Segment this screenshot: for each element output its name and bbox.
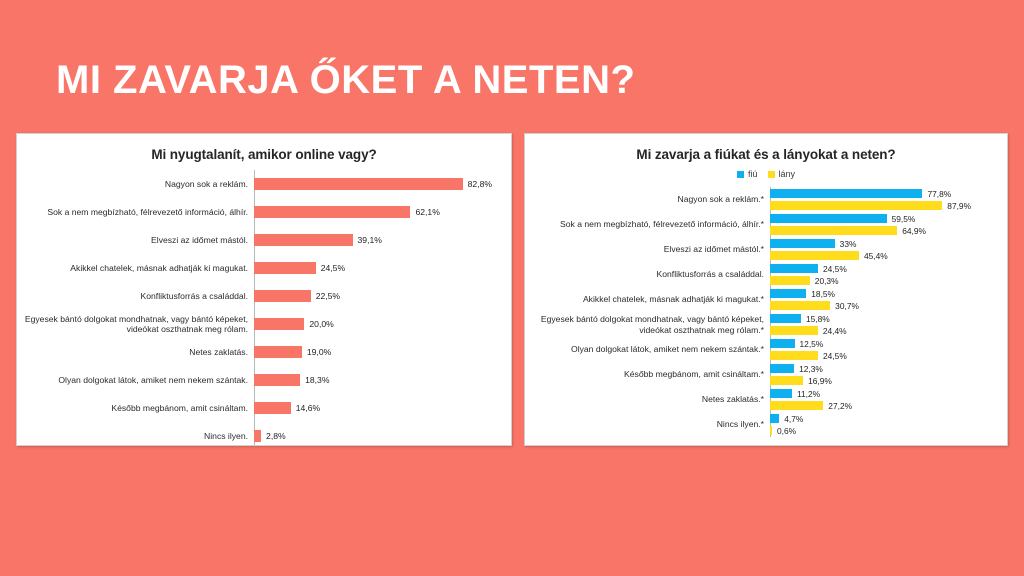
bar-row-label: Netes zaklatás. bbox=[17, 347, 254, 358]
bar-row-label: Netes zaklatás.* bbox=[525, 394, 770, 405]
bar-value-label: 2,8% bbox=[261, 431, 286, 441]
bar-row-label: Akikkel chatelek, másnak adhatják ki mag… bbox=[17, 263, 254, 274]
bar-row-label: Elveszi az időmet mástól.* bbox=[525, 244, 770, 255]
bar-row-bars: 39,1% bbox=[254, 234, 511, 246]
bar-row-bars: 12,3%16,9% bbox=[770, 364, 1007, 386]
bar-segment bbox=[254, 262, 316, 274]
bar-row: Akikkel chatelek, másnak adhatják ki mag… bbox=[525, 287, 1007, 312]
bar-row: Netes zaklatás.19,0% bbox=[17, 338, 511, 366]
bar-segment-fiú bbox=[770, 314, 801, 323]
bar-value-label: 64,9% bbox=[897, 226, 926, 236]
bar-segment bbox=[254, 318, 304, 330]
bar-row-label: Nagyon sok a reklám.* bbox=[525, 194, 770, 205]
bar-segment-lány bbox=[770, 276, 810, 285]
bar-row-bars: 2,8% bbox=[254, 430, 511, 442]
bar-row-bars: 22,5% bbox=[254, 290, 511, 302]
bar-value-label: 77,8% bbox=[922, 189, 951, 199]
bar-row-bars: 24,5%20,3% bbox=[770, 264, 1007, 286]
bar-row: Nagyon sok a reklám.*77,8%87,9% bbox=[525, 187, 1007, 212]
bar-row-bars: 59,5%64,9% bbox=[770, 214, 1007, 236]
bar-value-label: 19,0% bbox=[302, 347, 331, 357]
bar-row-bars: 18,3% bbox=[254, 374, 511, 386]
bar-row-label: Olyan dolgokat látok, amiket nem nekem s… bbox=[17, 375, 254, 386]
bar-segment-fiú bbox=[770, 339, 795, 348]
bar-value-label: 12,5% bbox=[795, 339, 824, 349]
bar-value-label: 22,5% bbox=[311, 291, 340, 301]
legend-label: lány bbox=[779, 169, 796, 179]
bar-value-label: 62,1% bbox=[410, 207, 439, 217]
bar-row: Konfliktusforrás a családdal.24,5%20,3% bbox=[525, 262, 1007, 287]
bar-value-label: 30,7% bbox=[830, 301, 859, 311]
legend-swatch-icon bbox=[768, 171, 775, 178]
bar-value-label: 82,8% bbox=[463, 179, 492, 189]
bar-value-label: 16,9% bbox=[803, 376, 832, 386]
bar-row-bars: 20,0% bbox=[254, 318, 511, 330]
bar-value-label: 12,3% bbox=[794, 364, 823, 374]
chart-card-left: Mi nyugtalanít, amikor online vagy? Nagy… bbox=[16, 133, 512, 446]
bar-row-label: Sok a nem megbízható, félrevezető inform… bbox=[17, 207, 254, 218]
bar-row: Netes zaklatás.*11,2%27,2% bbox=[525, 387, 1007, 412]
bar-row-bars: 15,8%24,4% bbox=[770, 314, 1007, 336]
bar-value-label: 24,5% bbox=[818, 264, 847, 274]
bar-row-bars: 33%45,4% bbox=[770, 239, 1007, 261]
bar-row: Elveszi az időmet mástól.39,1% bbox=[17, 226, 511, 254]
bar-row-label: Egyesek bántó dolgokat mondhatnak, vagy … bbox=[525, 314, 770, 335]
bar-segment bbox=[254, 402, 291, 414]
legend-label: fiú bbox=[748, 169, 758, 179]
bar-row-bars: 11,2%27,2% bbox=[770, 389, 1007, 411]
bar-row: Olyan dolgokat látok, amiket nem nekem s… bbox=[525, 337, 1007, 362]
bar-segment-lány bbox=[770, 226, 897, 235]
bar-value-label: 33% bbox=[835, 239, 857, 249]
bar-segment-lány bbox=[770, 251, 859, 260]
bar-segment bbox=[254, 234, 353, 246]
bar-segment bbox=[254, 290, 311, 302]
bar-row-label: Olyan dolgokat látok, amiket nem nekem s… bbox=[525, 344, 770, 355]
bar-row-bars: 82,8% bbox=[254, 178, 511, 190]
bar-row: Egyesek bántó dolgokat mondhatnak, vagy … bbox=[525, 312, 1007, 337]
bar-row-label: Sok a nem megbízható, félrevezető inform… bbox=[525, 219, 770, 230]
bar-segment-lány bbox=[770, 326, 818, 335]
bar-value-label: 20,3% bbox=[810, 276, 839, 286]
bar-value-label: 0,6% bbox=[772, 426, 796, 436]
bar-row: Akikkel chatelek, másnak adhatják ki mag… bbox=[17, 254, 511, 282]
bar-row-bars: 77,8%87,9% bbox=[770, 189, 1007, 211]
bar-segment-fiú bbox=[770, 414, 779, 423]
bar-segment-fiú bbox=[770, 214, 887, 223]
bar-segment-fiú bbox=[770, 189, 922, 198]
bar-row-label: Akikkel chatelek, másnak adhatják ki mag… bbox=[525, 294, 770, 305]
bar-value-label: 24,5% bbox=[316, 263, 345, 273]
bar-segment-fiú bbox=[770, 289, 806, 298]
bar-row-label: Később megbánom, amit csináltam. bbox=[17, 403, 254, 414]
bar-chart-right: Nagyon sok a reklám.*77,8%87,9%Sok a nem… bbox=[525, 187, 1007, 437]
page-title: MI ZAVARJA ŐKET A NETEN? bbox=[56, 56, 956, 104]
bar-row: Egyesek bántó dolgokat mondhatnak, vagy … bbox=[17, 310, 511, 338]
bar-row: Nincs ilyen.*4,7%0,6% bbox=[525, 412, 1007, 437]
bar-value-label: 39,1% bbox=[353, 235, 382, 245]
legend-swatch-icon bbox=[737, 171, 744, 178]
bar-segment-lány bbox=[770, 301, 830, 310]
bar-row: Nincs ilyen.2,8% bbox=[17, 422, 511, 446]
bar-row-label: Nincs ilyen.* bbox=[525, 419, 770, 430]
bar-segment-fiú bbox=[770, 239, 835, 248]
bar-segment bbox=[254, 178, 463, 190]
bar-row-bars: 14,6% bbox=[254, 402, 511, 414]
bar-row: Olyan dolgokat látok, amiket nem nekem s… bbox=[17, 366, 511, 394]
bar-value-label: 14,6% bbox=[291, 403, 320, 413]
bar-value-label: 18,5% bbox=[806, 289, 835, 299]
bar-segment-fiú bbox=[770, 389, 792, 398]
bar-row-label: Elveszi az időmet mástól. bbox=[17, 235, 254, 246]
bar-segment-lány bbox=[770, 401, 823, 410]
bar-row-bars: 24,5% bbox=[254, 262, 511, 274]
bar-value-label: 87,9% bbox=[942, 201, 971, 211]
bar-row-bars: 19,0% bbox=[254, 346, 511, 358]
legend-item-fiú[interactable]: fiú bbox=[737, 169, 758, 179]
bar-row: Sok a nem megbízható, félrevezető inform… bbox=[525, 212, 1007, 237]
bar-segment-fiú bbox=[770, 364, 794, 373]
bar-row-label: Konfliktusforrás a családdal. bbox=[525, 269, 770, 280]
bar-segment bbox=[254, 346, 302, 358]
bar-segment-fiú bbox=[770, 264, 818, 273]
bar-row: Konfliktusforrás a családdal.22,5% bbox=[17, 282, 511, 310]
bar-row: Később megbánom, amit csináltam.14,6% bbox=[17, 394, 511, 422]
bar-value-label: 45,4% bbox=[859, 251, 888, 261]
bar-value-label: 15,8% bbox=[801, 314, 830, 324]
bar-segment bbox=[254, 374, 300, 386]
bar-row: Később megbánom, amit csináltam.*12,3%16… bbox=[525, 362, 1007, 387]
bar-chart-left: Nagyon sok a reklám.82,8%Sok a nem megbí… bbox=[17, 170, 511, 446]
bar-value-label: 59,5% bbox=[887, 214, 916, 224]
chart-legend-right: fiúlány bbox=[525, 169, 1007, 179]
bar-row-bars: 12,5%24,5% bbox=[770, 339, 1007, 361]
chart-card-right: Mi zavarja a fiúkat és a lányokat a nete… bbox=[524, 133, 1008, 446]
bar-row-label: Konfliktusforrás a családdal. bbox=[17, 291, 254, 302]
bar-value-label: 24,5% bbox=[818, 351, 847, 361]
bar-row-label: Nagyon sok a reklám. bbox=[17, 179, 254, 190]
bar-row: Sok a nem megbízható, félrevezető inform… bbox=[17, 198, 511, 226]
bar-row-bars: 18,5%30,7% bbox=[770, 289, 1007, 311]
bar-segment-lány bbox=[770, 201, 942, 210]
bar-row-label: Nincs ilyen. bbox=[17, 431, 254, 442]
bar-segment bbox=[254, 430, 261, 442]
bar-value-label: 20,0% bbox=[304, 319, 333, 329]
bar-row: Elveszi az időmet mástól.*33%45,4% bbox=[525, 237, 1007, 262]
legend-item-lány[interactable]: lány bbox=[768, 169, 796, 179]
bar-row-bars: 4,7%0,6% bbox=[770, 414, 1007, 436]
bar-row: Nagyon sok a reklám.82,8% bbox=[17, 170, 511, 198]
bar-row-bars: 62,1% bbox=[254, 206, 511, 218]
bar-segment-lány bbox=[770, 376, 803, 385]
bar-row-label: Egyesek bántó dolgokat mondhatnak, vagy … bbox=[17, 314, 254, 335]
bar-value-label: 18,3% bbox=[300, 375, 329, 385]
bar-segment-lány bbox=[770, 351, 818, 360]
bar-value-label: 24,4% bbox=[818, 326, 847, 336]
bar-value-label: 27,2% bbox=[823, 401, 852, 411]
bar-segment bbox=[254, 206, 410, 218]
bar-value-label: 11,2% bbox=[792, 389, 820, 399]
bar-row-label: Később megbánom, amit csináltam.* bbox=[525, 369, 770, 380]
bar-value-label: 4,7% bbox=[779, 414, 803, 424]
chart-title-left: Mi nyugtalanít, amikor online vagy? bbox=[17, 147, 511, 162]
chart-title-right: Mi zavarja a fiúkat és a lányokat a nete… bbox=[525, 147, 1007, 162]
